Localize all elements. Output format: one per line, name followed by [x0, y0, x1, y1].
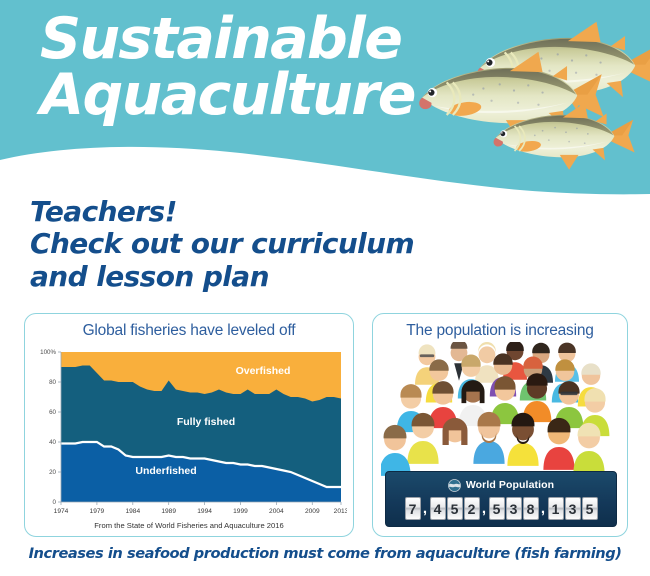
chart-title: Global fisheries have leveled off	[25, 322, 353, 340]
digit-cell: 4	[430, 497, 446, 520]
crowd-of-people-icon	[381, 342, 619, 476]
digit-separator: ,	[540, 497, 547, 520]
chart-source-note: From the State of World Fisheries and Aq…	[25, 521, 353, 530]
y-tick-label: 100%	[40, 349, 56, 356]
x-tick-label: 1989	[161, 508, 176, 515]
series-label: Overfished	[236, 365, 291, 377]
x-tick-label: 1999	[233, 508, 248, 515]
banner-title: Sustainable Aquaculture	[40, 12, 460, 124]
globe-icon	[448, 479, 461, 492]
series-label: Fully fished	[177, 416, 235, 428]
fisheries-chart-panel: Global fisheries have leveled off 020406…	[24, 313, 354, 537]
x-tick-label: 1974	[54, 508, 69, 515]
digit-cell: 1	[548, 497, 564, 520]
y-tick-label: 80	[49, 379, 56, 386]
digit-cell: 8	[523, 497, 539, 520]
header-banner: Sustainable Aquaculture	[0, 0, 650, 196]
digit-separator: ,	[422, 497, 429, 520]
fisheries-area-chart: 020406080100%197419791984198919941999200…	[31, 344, 347, 530]
digit-cell: 3	[565, 497, 581, 520]
digit-cell: 5	[582, 497, 598, 520]
y-tick-label: 60	[49, 409, 56, 416]
population-title: The population is increasing	[373, 322, 627, 340]
x-tick-label: 1979	[90, 508, 105, 515]
digit-cell: 7	[405, 497, 421, 520]
population-digits: 7,452,538,135	[392, 497, 610, 520]
digit-cell: 3	[506, 497, 522, 520]
digit-separator: ,	[481, 497, 488, 520]
counter-header: World Population	[386, 478, 616, 492]
teachers-heading: Teachers! Check out our curriculum and l…	[30, 196, 510, 293]
digit-cell: 2	[464, 497, 480, 520]
y-tick-label: 0	[53, 499, 57, 506]
footer-caption: Increases in seafood production must com…	[0, 545, 650, 562]
x-tick-label: 2009	[305, 508, 320, 515]
y-tick-label: 20	[49, 469, 56, 476]
x-tick-label: 1984	[125, 508, 140, 515]
digit-cell: 5	[447, 497, 463, 520]
counter-label: World Population	[466, 479, 554, 491]
crowd-svg	[381, 342, 619, 476]
world-population-counter: World Population 7,452,538,135	[385, 471, 617, 527]
x-tick-label: 2004	[269, 508, 284, 515]
digit-cell: 5	[489, 497, 505, 520]
population-panel: The population is increasing	[372, 313, 628, 537]
chart-svg: 020406080100%197419791984198919941999200…	[31, 344, 347, 530]
series-label: Underfished	[135, 465, 196, 477]
fish-school-icon	[408, 16, 650, 176]
x-tick-label: 2013	[334, 508, 347, 515]
y-tick-label: 40	[49, 439, 56, 446]
x-tick-label: 1994	[197, 508, 212, 515]
